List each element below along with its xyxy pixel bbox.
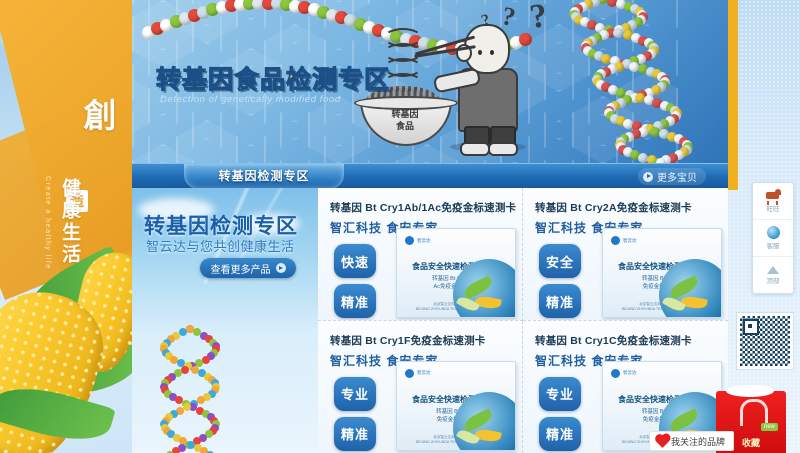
dna-strand-decoration bbox=[146, 325, 242, 453]
bag-handle bbox=[740, 399, 768, 426]
cartoon-man bbox=[450, 18, 524, 148]
product-badge: 专业 bbox=[334, 377, 376, 411]
left-decorative-column: 創 造 健康生活 Create a healthy life bbox=[0, 0, 132, 453]
product-title: 转基因 Bt Cry1Ab/1Ac免疫金标速测卡 bbox=[330, 200, 516, 215]
right-accent-bar bbox=[728, 0, 738, 190]
box-logo: 智云达 bbox=[611, 369, 637, 378]
box-logo: 智云达 bbox=[405, 236, 431, 245]
back-to-top-icon bbox=[767, 266, 779, 274]
customer-service-icon bbox=[767, 226, 780, 239]
man-eye bbox=[478, 50, 482, 55]
dna-bead bbox=[613, 28, 623, 38]
product-card[interactable]: 转基因 Bt Cry1Ab/1Ac免疫金标速测卡智汇科技 食安专家快速精准点击购… bbox=[318, 188, 523, 321]
promo-panel[interactable]: 转基因检测专区 智云达与您共创健康生活 查看更多产品 bbox=[132, 188, 318, 453]
favorite-brand-label: 我关注的品牌 bbox=[671, 435, 725, 448]
rail-label: 顶部 bbox=[767, 275, 780, 285]
slogan-vertical-sub: 健康生活 bbox=[56, 178, 83, 266]
favorite-brand-button[interactable]: 我关注的品牌 bbox=[649, 431, 734, 451]
qr-finder-icon bbox=[743, 319, 759, 335]
qr-code[interactable] bbox=[736, 312, 794, 370]
play-icon bbox=[276, 263, 286, 273]
dna-bead bbox=[197, 396, 205, 404]
box-logo-text: 智云达 bbox=[417, 238, 431, 244]
product-badge: 精准 bbox=[539, 417, 581, 451]
box-logo-text: 智云达 bbox=[417, 370, 431, 376]
slogan-big-char: 創 bbox=[79, 98, 116, 132]
box-logo: 智云达 bbox=[611, 236, 637, 245]
banner-subtitle: Detection of genetically modified food bbox=[160, 94, 341, 105]
man-shoe bbox=[488, 142, 518, 156]
wangwang-icon bbox=[766, 189, 781, 202]
play-icon bbox=[643, 172, 653, 182]
product-box-image: 智云达食品安全快速检测试剂盒转基因 Bt Cry1F免疫金标速测卡北京智云达科技… bbox=[396, 361, 516, 451]
product-badge: 精准 bbox=[539, 284, 581, 318]
man-eye bbox=[490, 50, 494, 55]
heart-icon bbox=[656, 435, 669, 448]
box-logo-text: 智云达 bbox=[623, 370, 637, 376]
nav-tab-label: 转基因检测专区 bbox=[184, 164, 344, 188]
product-box-image: 智云达食品安全快速检测试剂盒转基因 Bt Cry2A免疫金标速测卡北京智云达科技… bbox=[602, 228, 722, 318]
product-badge: 安全 bbox=[539, 244, 581, 278]
category-nav-bar: 转基因检测专区 更多宝贝 bbox=[132, 163, 728, 189]
product-badge: 快速 bbox=[334, 244, 376, 278]
slogan-english: Create a healthy life bbox=[44, 176, 51, 270]
man-shoe bbox=[460, 142, 490, 156]
bag-opening bbox=[726, 385, 774, 397]
view-more-products-label: 查看更多产品 bbox=[211, 261, 271, 276]
rail-label: 客服 bbox=[767, 240, 780, 250]
dna-bead bbox=[181, 366, 189, 374]
product-title: 转基因 Bt Cry2A免疫金标速测卡 bbox=[535, 200, 692, 215]
rail-item-customer-service[interactable]: 客服 bbox=[753, 220, 793, 257]
product-card[interactable]: 转基因 Bt Cry1F免疫金标速测卡智汇科技 食安专家专业精准点击购买智云达食… bbox=[318, 321, 523, 453]
bowl-label-line1: 转基因 bbox=[378, 108, 432, 120]
banner-title: 转基因食品检测专区 bbox=[156, 60, 390, 96]
product-title: 转基因 Bt Cry1C免疫金标速测卡 bbox=[535, 333, 692, 348]
store-page: 創 造 健康生活 Create a healthy life ? ? ? 转基因… bbox=[0, 0, 800, 453]
box-logo: 智云达 bbox=[405, 369, 431, 378]
product-card[interactable]: 转基因 Bt Cry2A免疫金标速测卡智汇科技 食安专家安全精准点击购买智云达食… bbox=[523, 188, 728, 321]
product-grid: 转基因 Bt Cry1Ab/1Ac免疫金标速测卡智汇科技 食安专家快速精准点击购… bbox=[318, 188, 728, 453]
box-logo-text: 智云达 bbox=[623, 238, 637, 244]
product-badge: 精准 bbox=[334, 417, 376, 451]
product-badge: 专业 bbox=[539, 377, 581, 411]
bowl-label-line2: 食品 bbox=[378, 120, 432, 132]
more-items-button[interactable]: 更多宝贝 bbox=[638, 168, 706, 185]
hero-banner[interactable]: ? ? ? 转基因 食品 bbox=[132, 0, 728, 163]
nav-tab-gmo-zone[interactable]: 转基因检测专区 bbox=[184, 164, 344, 189]
product-badge: 精准 bbox=[334, 284, 376, 318]
dna-bead bbox=[179, 328, 187, 336]
dna-helix-decoration bbox=[538, 0, 688, 163]
more-items-label: 更多宝贝 bbox=[657, 169, 697, 184]
new-badge: new bbox=[761, 423, 778, 431]
promo-subtitle: 智云达与您共创健康生活 bbox=[146, 236, 295, 255]
bowl-label: 转基因 食品 bbox=[378, 108, 432, 132]
rail-item-back-to-top[interactable]: 顶部 bbox=[753, 257, 793, 293]
product-title: 转基因 Bt Cry1F免疫金标速测卡 bbox=[330, 333, 485, 348]
slogan-vertical-main: 創 bbox=[52, 98, 114, 132]
view-more-products-button[interactable]: 查看更多产品 bbox=[200, 258, 296, 278]
side-toolbar: 旺旺 客服 顶部 bbox=[752, 182, 794, 294]
product-box-image: 智云达食品安全快速检测试剂盒转基因 Bt Cry1Ab/1Ac免疫金标速测卡北京… bbox=[396, 228, 516, 318]
rail-item-wangwang[interactable]: 旺旺 bbox=[753, 183, 793, 220]
